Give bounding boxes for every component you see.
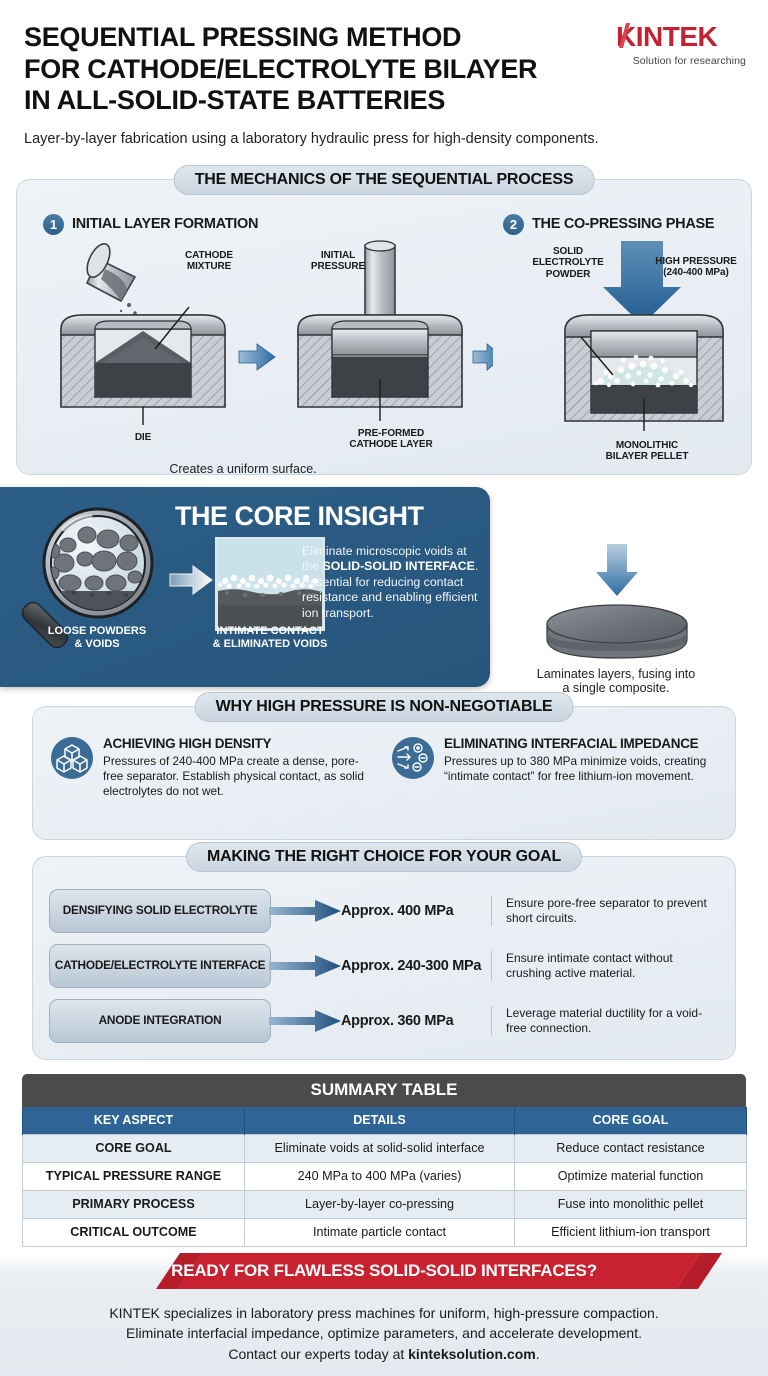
choice-arrow-0	[269, 900, 341, 922]
cell-key-0: CORE GOAL	[23, 1135, 245, 1163]
choice-section-title: MAKING THE RIGHT CHOICE FOR YOUR GOAL	[186, 842, 582, 872]
cta-line-2: Eliminate interfacial impedance, optimiz…	[0, 1323, 768, 1343]
page-title: SEQUENTIAL PRESSING METHOD FOR CATHODE/E…	[24, 22, 584, 117]
why-heading-impedance: ELIMINATING INTERFACIAL IMPEDANCE	[444, 737, 717, 752]
summary-title: SUMMARY TABLE	[22, 1074, 746, 1107]
pellet-arrow	[596, 544, 638, 596]
choice-panel: MAKING THE RIGHT CHOICE FOR YOUR GOAL DE…	[32, 856, 736, 1060]
step-1-header: 1 INITIAL LAYER FORMATION	[43, 214, 493, 235]
mechanics-panel: THE MECHANICS OF THE SEQUENTIAL PROCESS …	[16, 179, 752, 475]
cubes-icon	[51, 737, 93, 779]
label-preformed-cathode: PRE-FORMEDCATHODE LAYER	[321, 428, 461, 451]
core-insight-arrow	[168, 563, 214, 597]
core-insight-caption-left: LOOSE POWDERS & VOIDS	[22, 625, 172, 651]
table-row: TYPICAL PRESSURE RANGE 240 MPa to 400 MP…	[23, 1163, 747, 1191]
logo-wordmark: KINTEK	[616, 22, 746, 52]
choice-desc-1: Ensure intimate contact without crushing…	[491, 951, 717, 981]
page-title-line3: IN ALL-SOLID-STATE BATTERIES	[24, 85, 584, 117]
choice-goal-2[interactable]: ANODE INTEGRATION	[49, 999, 271, 1043]
cell-key-2: PRIMARY PROCESS	[23, 1191, 245, 1219]
label-cathode-mixture: CATHODEMIXTURE	[169, 250, 249, 273]
logo-mark-icon: KINTEK	[616, 22, 746, 52]
column-header-core-goal: CORE GOAL	[515, 1107, 747, 1135]
core-insight-caption-right: INTIMATE CONTACT & ELIMINATED VOIDS	[182, 625, 358, 651]
choice-value-2: Approx. 360 MPa	[341, 1013, 491, 1029]
step-1-group: 1 INITIAL LAYER FORMATION	[43, 214, 493, 454]
page-header: KINTEK Solution for researching SEQUENTI…	[0, 0, 768, 147]
summary-table-block: SUMMARY TABLE KEY ASPECT DETAILS CORE GO…	[22, 1074, 746, 1247]
logo-tagline: Solution for researching	[616, 55, 746, 67]
label-monolithic-pellet: MONOLITHICBILAYER PELLET	[577, 440, 717, 463]
why-heading-density: ACHIEVING HIGH DENSITY	[103, 737, 376, 752]
cell-goal-1: Optimize material function	[515, 1163, 747, 1191]
cell-detail-3: Intimate particle contact	[245, 1219, 515, 1247]
kintek-logo: KINTEK Solution for researching	[616, 22, 746, 67]
label-initial-pressure: INITIALPRESSURE	[293, 250, 383, 273]
cell-goal-0: Reduce contact resistance	[515, 1135, 747, 1163]
table-row: CORE GOAL Eliminate voids at solid-solid…	[23, 1135, 747, 1163]
label-high-pressure: HIGH PRESSURE(240-400 MPa)	[631, 256, 761, 279]
choice-arrow-2	[269, 1010, 341, 1032]
choice-arrow-1	[269, 955, 341, 977]
pellet-illustration	[486, 540, 744, 660]
why-item-impedance: ELIMINATING INTERFACIAL IMPEDANCE Pressu…	[392, 737, 717, 798]
svg-text:KINTEK: KINTEK	[616, 22, 718, 52]
choice-row: DENSIFYING SOLID ELECTROLYTE Approx. 400…	[49, 887, 717, 935]
table-header-row: KEY ASPECT DETAILS CORE GOAL	[23, 1107, 747, 1135]
step-2-title: THE CO-PRESSING PHASE	[532, 216, 714, 232]
step-2-caption: Laminates layers, fusing into a single c…	[486, 667, 746, 695]
core-insight-panel: THE CORE INSIGHT	[0, 487, 490, 687]
column-header-details: DETAILS	[245, 1107, 515, 1135]
choice-rows: DENSIFYING SOLID ELECTROLYTE Approx. 400…	[33, 857, 735, 1045]
cell-detail-2: Layer-by-layer co-pressing	[245, 1191, 515, 1219]
step-1-caption: Creates a uniform surface.	[103, 462, 383, 476]
summary-table: KEY ASPECT DETAILS CORE GOAL CORE GOAL E…	[22, 1107, 747, 1247]
page-title-line1: SEQUENTIAL PRESSING METHOD	[24, 22, 584, 54]
cta-line-3: Contact our experts today at kinteksolut…	[0, 1344, 768, 1364]
step-2-group: 2 THE CO-PRESSING PHASE	[503, 214, 763, 456]
label-solid-electrolyte-powder: SOLIDELECTROLYTEPOWDER	[513, 246, 623, 281]
choice-goal-0[interactable]: DENSIFYING SOLID ELECTROLYTE	[49, 889, 271, 933]
cta-website-link[interactable]: kinteksolution.com	[408, 1346, 536, 1362]
why-panel: WHY HIGH PRESSURE IS NON-NEGOTIABLE ACHI…	[32, 706, 736, 840]
process-arrow-2	[473, 344, 493, 370]
choice-goal-1[interactable]: CATHODE/ELECTROLYTE INTERFACE	[49, 944, 271, 988]
cta-banner: READY FOR FLAWLESS SOLID-SOLID INTERFACE…	[0, 1253, 768, 1289]
step-1-illustration	[43, 239, 493, 449]
cta-line-3-post: .	[536, 1346, 540, 1362]
choice-desc-2: Leverage material ductility for a void-f…	[491, 1006, 717, 1036]
table-row: PRIMARY PROCESS Layer-by-layer co-pressi…	[23, 1191, 747, 1219]
column-header-key-aspect: KEY ASPECT	[23, 1107, 245, 1135]
cta-line-3-pre: Contact our experts today at	[228, 1346, 408, 1362]
why-body-density: Pressures of 240-400 MPa create a dense,…	[103, 754, 376, 799]
mechanics-section-title: THE MECHANICS OF THE SEQUENTIAL PROCESS	[174, 165, 595, 195]
process-arrow-1	[239, 344, 275, 370]
cell-key-3: CRITICAL OUTCOME	[23, 1219, 245, 1247]
step-2-header: 2 THE CO-PRESSING PHASE	[503, 214, 763, 235]
why-body-impedance: Pressures up to 380 MPa minimize voids, …	[444, 754, 717, 784]
step-1-title: INITIAL LAYER FORMATION	[72, 216, 258, 232]
step-2-badge: 2	[503, 214, 524, 235]
cta-line-1: KINTEK specializes in laboratory press m…	[0, 1303, 768, 1323]
choice-row: ANODE INTEGRATION Approx. 360 MPa Levera…	[49, 997, 717, 1045]
why-section-title: WHY HIGH PRESSURE IS NON-NEGOTIABLE	[195, 692, 574, 722]
cell-detail-0: Eliminate voids at solid-solid interface	[245, 1135, 515, 1163]
choice-value-1: Approx. 240-300 MPa	[341, 958, 491, 974]
cell-detail-1: 240 MPa to 400 MPa (varies)	[245, 1163, 515, 1191]
core-insight-title: THE CORE INSIGHT	[175, 501, 424, 532]
cell-goal-3: Efficient lithium-ion transport	[515, 1219, 747, 1247]
ion-flow-icon	[392, 737, 434, 779]
choice-desc-0: Ensure pore-free separator to prevent sh…	[491, 896, 717, 926]
choice-row: CATHODE/ELECTROLYTE INTERFACE Approx. 24…	[49, 942, 717, 990]
cell-goal-2: Fuse into monolithic pellet	[515, 1191, 747, 1219]
cta-section: READY FOR FLAWLESS SOLID-SOLID INTERFACE…	[0, 1253, 768, 1376]
page-title-line2: FOR CATHODE/ELECTROLYTE BILAYER	[24, 54, 584, 86]
step-1-badge: 1	[43, 214, 64, 235]
cell-key-1: TYPICAL PRESSURE RANGE	[23, 1163, 245, 1191]
cta-body: KINTEK specializes in laboratory press m…	[0, 1303, 768, 1364]
label-die: DIE	[113, 432, 173, 444]
cta-banner-text: READY FOR FLAWLESS SOLID-SOLID INTERFACE…	[0, 1253, 768, 1289]
die-copressing	[565, 315, 723, 431]
core-insight-body: Eliminate microscopic voids at the SOLID…	[302, 544, 482, 621]
choice-value-0: Approx. 400 MPa	[341, 903, 491, 919]
why-item-density: ACHIEVING HIGH DENSITY Pressures of 240-…	[51, 737, 376, 798]
pellet-result-group: Laminates layers, fusing into a single c…	[486, 540, 746, 695]
page-subtitle: Layer-by-layer fabrication using a labor…	[24, 131, 744, 147]
table-row: CRITICAL OUTCOME Intimate particle conta…	[23, 1219, 747, 1247]
